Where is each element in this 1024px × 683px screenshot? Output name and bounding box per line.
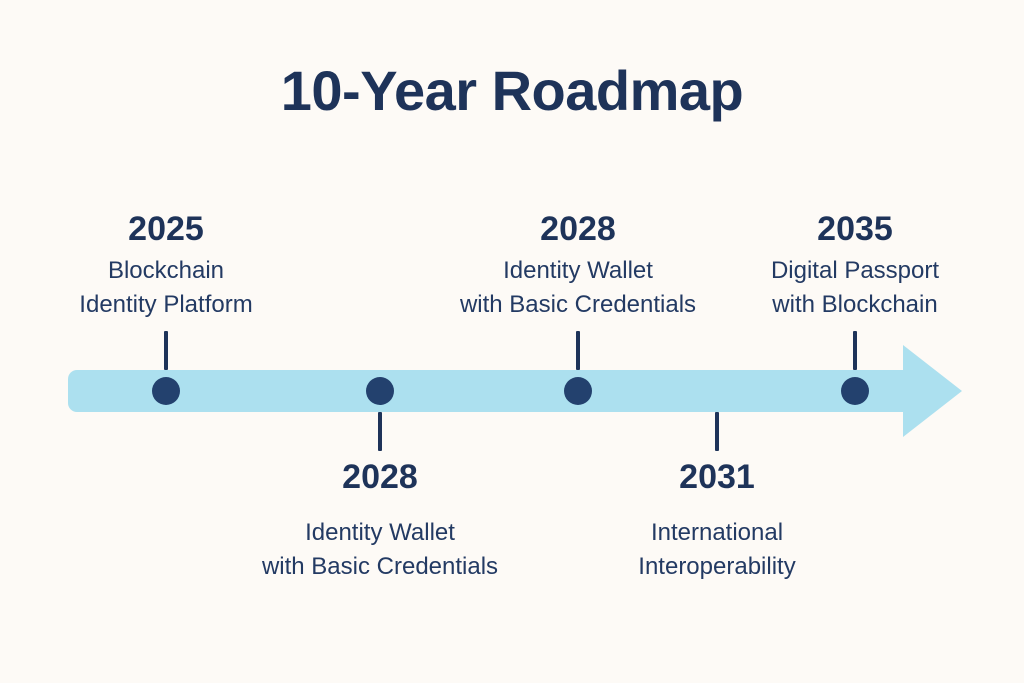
milestone-description-line2: Identity Platform	[0, 288, 346, 322]
milestone-description-line1: Digital Passport	[675, 254, 1024, 288]
milestone-year: 2031	[537, 459, 897, 496]
page-title: 10-Year Roadmap	[0, 60, 1024, 122]
milestone-description-line1: Blockchain	[0, 254, 346, 288]
milestone-description-line1: International	[537, 516, 897, 550]
milestone-dot[interactable]	[841, 377, 869, 405]
milestone-connector-tick	[378, 412, 382, 451]
milestone-dot[interactable]	[564, 377, 592, 405]
timeline-arrowhead-icon	[903, 345, 962, 437]
milestone-description: Identity Walletwith Basic Credentials	[200, 516, 560, 584]
milestone-year: 2035	[675, 211, 1024, 248]
milestone-connector-tick	[164, 331, 168, 370]
milestone-description: BlockchainIdentity Platform	[0, 254, 346, 322]
milestone-connector-tick	[715, 412, 719, 451]
milestone-label[interactable]: 2028Identity Walletwith Basic Credential…	[200, 459, 560, 585]
milestone-description-line2: Interoperability	[537, 550, 897, 584]
milestone-connector-tick	[576, 331, 580, 370]
milestone-description-line2: with Blockchain	[675, 288, 1024, 322]
milestone-description: InternationalInteroperability	[537, 516, 897, 584]
milestone-year: 2028	[200, 459, 560, 496]
milestone-label[interactable]: 2025BlockchainIdentity Platform	[0, 211, 346, 323]
timeline-bar	[68, 370, 908, 412]
milestone-year: 2025	[0, 211, 346, 248]
milestone-dot[interactable]	[366, 377, 394, 405]
milestone-dot[interactable]	[152, 377, 180, 405]
milestone-description-line1: Identity Wallet	[200, 516, 560, 550]
milestone-description-line2: with Basic Credentials	[200, 550, 560, 584]
milestone-label[interactable]: 2031InternationalInteroperability	[537, 459, 897, 585]
milestone-description: Digital Passportwith Blockchain	[675, 254, 1024, 322]
milestone-connector-tick	[853, 331, 857, 370]
milestone-label[interactable]: 2035Digital Passportwith Blockchain	[675, 211, 1024, 323]
roadmap-canvas: 10-Year Roadmap 2025BlockchainIdentity P…	[0, 0, 1024, 683]
